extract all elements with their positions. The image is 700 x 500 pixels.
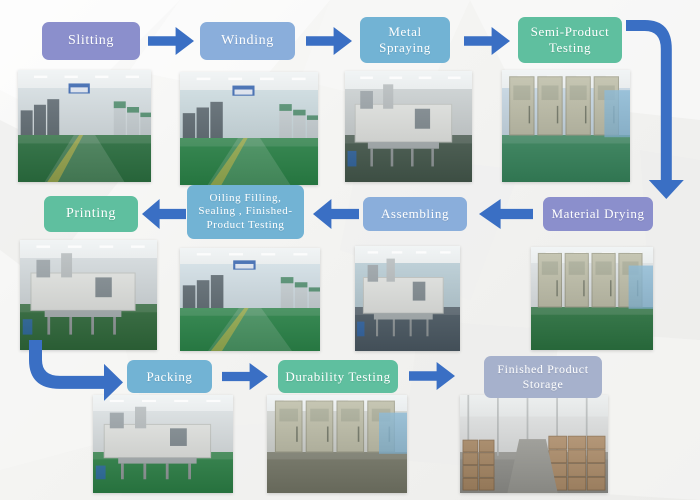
- process-node-material-drying[interactable]: Material Drying: [543, 197, 653, 231]
- photo-winding: [180, 72, 318, 185]
- photo-assembling: [355, 246, 460, 351]
- process-node-storage[interactable]: Finished Product Storage: [484, 356, 602, 398]
- photo-oiling: [180, 248, 320, 351]
- arrow-assembling-to-oiling: [313, 199, 359, 229]
- process-node-metal-spraying[interactable]: Metal Spraying: [360, 17, 450, 63]
- arrow-semi-product-to-drying: [624, 25, 680, 200]
- photo-drying: [531, 247, 653, 350]
- photo-metal-spraying: [345, 71, 472, 182]
- photo-durability: [267, 395, 407, 493]
- process-node-label: Material Drying: [551, 206, 644, 222]
- process-node-label: Winding: [221, 32, 274, 49]
- process-node-oiling[interactable]: Oiling Filling, Sealing , Finished- Prod…: [187, 185, 304, 239]
- process-node-label: Semi-Product Testing: [531, 24, 610, 56]
- process-flow-diagram: SlittingWindingMetal SprayingSemi-Produc…: [0, 0, 700, 500]
- process-node-printing[interactable]: Printing: [44, 196, 138, 232]
- photo-packing: [93, 395, 233, 493]
- process-node-semi-product[interactable]: Semi-Product Testing: [518, 17, 622, 63]
- arrow-printing-to-packing: [28, 340, 124, 398]
- photo-printing: [20, 240, 157, 350]
- process-node-label: Printing: [66, 205, 116, 222]
- photo-slitting: [18, 70, 151, 182]
- process-node-label: Metal Spraying: [379, 24, 431, 56]
- process-node-assembling[interactable]: Assembling: [363, 197, 467, 231]
- process-node-label: Durability Testing: [285, 369, 390, 385]
- arrow-packing-to-durability: [222, 363, 268, 390]
- arrow-oiling-to-printing: [142, 199, 186, 229]
- process-node-winding[interactable]: Winding: [200, 22, 295, 60]
- arrow-durability-to-storage: [409, 362, 455, 390]
- process-node-packing[interactable]: Packing: [127, 360, 212, 393]
- process-node-slitting[interactable]: Slitting: [42, 22, 140, 60]
- arrow-slitting-to-winding: [148, 27, 194, 55]
- photo-storage: [460, 395, 608, 493]
- process-node-label: Oiling Filling, Sealing , Finished- Prod…: [198, 192, 292, 232]
- photo-semi-product: [502, 70, 630, 182]
- arrow-winding-to-metal-spraying: [306, 27, 352, 55]
- process-node-label: Slitting: [68, 32, 114, 49]
- process-node-label: Packing: [146, 369, 192, 385]
- arrow-metal-to-semi-product: [464, 27, 510, 55]
- process-node-label: Assembling: [381, 206, 449, 222]
- arrow-drying-to-assembling: [479, 199, 533, 229]
- process-node-label: Finished Product Storage: [497, 362, 588, 391]
- process-node-durability[interactable]: Durability Testing: [278, 360, 398, 393]
